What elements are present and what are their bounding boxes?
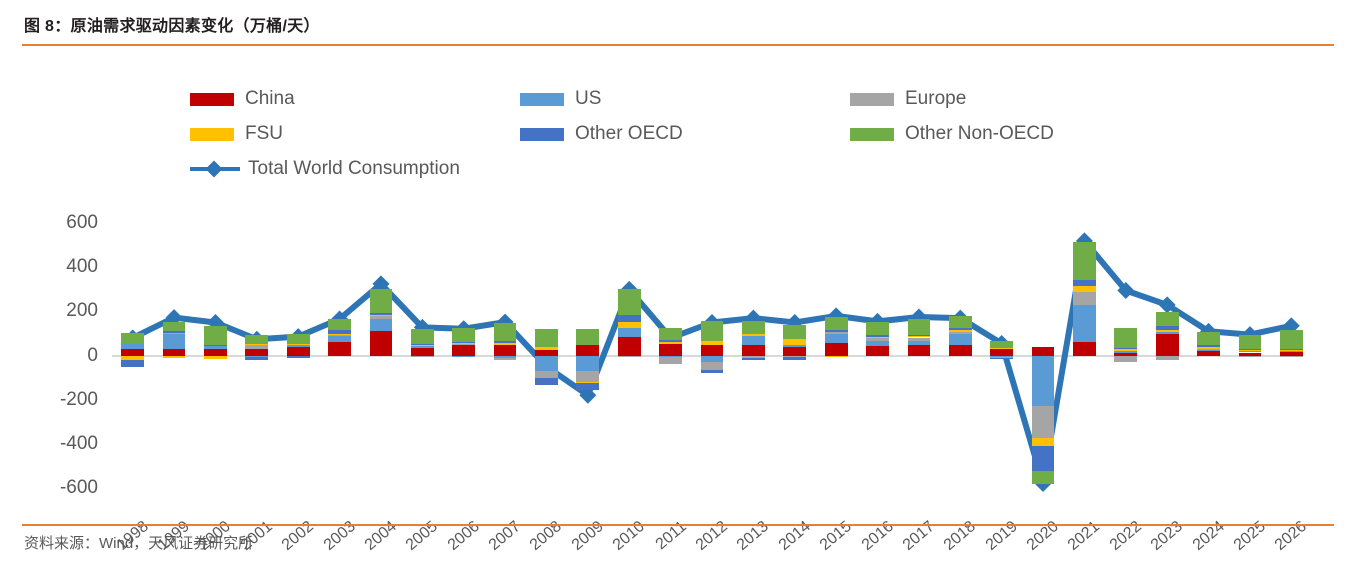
bar-segment [1032, 438, 1055, 447]
bar-segment [949, 332, 972, 334]
bar-group [1073, 210, 1096, 510]
y-axis: 6004002000-200-400-600 [0, 210, 108, 510]
bar-segment [1280, 351, 1303, 352]
bar-segment [121, 343, 144, 350]
bar-segment [494, 343, 517, 345]
legend-label: Europe [905, 88, 966, 110]
bar-segment [370, 331, 393, 356]
y-axis-tick: -400 [60, 433, 98, 455]
bar-segment [411, 345, 434, 346]
bar-segment [949, 316, 972, 328]
bar-segment [452, 345, 475, 355]
bar-segment [908, 345, 931, 355]
bar-segment [204, 356, 227, 359]
bar-group [370, 210, 393, 510]
bar-segment [370, 315, 393, 316]
bar-segment [866, 335, 889, 337]
bar-segment [1114, 349, 1137, 351]
bar-group [494, 210, 517, 510]
bar-segment [204, 345, 227, 348]
bar-segment [163, 331, 186, 332]
bar-segment [908, 335, 931, 336]
bar-segment [370, 319, 393, 330]
bar-segment [701, 356, 724, 363]
bar-segment [1156, 356, 1179, 360]
y-axis-tick: -600 [60, 477, 98, 499]
bar-segment [494, 358, 517, 360]
bar-segment [1239, 356, 1262, 357]
bar-segment [1114, 356, 1137, 363]
footer-divider [22, 524, 1334, 526]
bar-segment [618, 315, 641, 322]
legend-swatch-fsu [190, 128, 234, 141]
bar-group [287, 210, 310, 510]
bar-segment [866, 346, 889, 355]
bar-segment [866, 322, 889, 336]
bar-segment [659, 344, 682, 355]
bar-group [452, 210, 475, 510]
legend-swatch-other-oecd [520, 128, 564, 141]
bar-segment [949, 334, 972, 345]
bar-segment [576, 383, 599, 390]
bar-segment [1073, 242, 1096, 280]
source-note: 资料来源：Wind，天风证券研究所 [24, 532, 253, 553]
bar-segment [1239, 350, 1262, 351]
bar-group [1156, 210, 1179, 510]
bar-group [866, 210, 889, 510]
bar-segment [1114, 328, 1137, 348]
bar-segment [452, 342, 475, 344]
bar-segment [618, 337, 641, 356]
x-axis: 1998199920002001200220032004200520062007… [112, 514, 1312, 574]
legend-item-other-non-oecd[interactable]: Other Non-OECD [850, 123, 1170, 145]
bar-group [204, 210, 227, 510]
bar-segment [370, 313, 393, 315]
bar-segment [1197, 349, 1220, 351]
bar-segment [245, 344, 268, 345]
bar-segment [328, 336, 351, 342]
bar-segment [825, 334, 848, 342]
bar-segment [742, 321, 765, 335]
legend-swatch-other-non-oecd [850, 128, 894, 141]
bar-segment [204, 326, 227, 345]
bar-group [908, 210, 931, 510]
y-axis-tick: -200 [60, 389, 98, 411]
bar-segment [494, 323, 517, 340]
legend-row: ChinaUSEurope [190, 88, 1170, 110]
bar-segment [411, 356, 434, 357]
bar-segment [535, 356, 558, 371]
bar-segment [701, 370, 724, 373]
bar-segment [411, 344, 434, 345]
bar-segment [1280, 349, 1303, 350]
bar-segment [576, 329, 599, 345]
bar-segment [659, 342, 682, 344]
bar-segment [1073, 280, 1096, 287]
legend-label: Other Non-OECD [905, 123, 1054, 145]
bar-segment [328, 335, 351, 336]
bar-segment [949, 345, 972, 356]
legend-swatch-china [190, 93, 234, 106]
bar-segment [204, 345, 227, 346]
bar-segment [411, 348, 434, 356]
bar-segment [287, 347, 310, 355]
legend-label: China [245, 88, 295, 110]
bar-segment [783, 325, 806, 340]
bar-group [1239, 210, 1262, 510]
bar-segment [701, 321, 724, 340]
bar-group [659, 210, 682, 510]
bar-group [1280, 210, 1303, 510]
bar-segment [204, 349, 227, 356]
bar-segment [1032, 446, 1055, 470]
bar-group [328, 210, 351, 510]
bar-group [742, 210, 765, 510]
bar-segment [1197, 347, 1220, 349]
bar-segment [990, 349, 1013, 356]
bar-segment [411, 329, 434, 344]
bar-segment [783, 339, 806, 344]
legend-swatch-us [520, 93, 564, 106]
bar-segment [287, 344, 310, 345]
bar-segment [1073, 292, 1096, 305]
bar-group [1197, 210, 1220, 510]
bar-segment [701, 362, 724, 370]
bar-segment [245, 357, 268, 359]
bar-segment [328, 334, 351, 335]
bar-segment [163, 349, 186, 356]
bar-segment [618, 289, 641, 315]
bar-segment [328, 342, 351, 355]
bar-segment [825, 330, 848, 332]
bar-segment [535, 329, 558, 348]
legend-item-us[interactable]: US [520, 88, 850, 110]
bar-segment [452, 356, 475, 357]
bar-segment [1114, 348, 1137, 349]
bar-segment [866, 337, 889, 338]
bar-segment [659, 328, 682, 339]
bar-segment [411, 346, 434, 347]
bar-segment [659, 357, 682, 365]
bar-segment [1114, 351, 1137, 353]
legend-label: US [575, 88, 601, 110]
bar-segment [1280, 350, 1303, 351]
bar-segment [163, 322, 186, 332]
bar-segment [825, 332, 848, 335]
bar-segment [245, 335, 268, 343]
title-divider [22, 44, 1334, 46]
legend-item-fsu[interactable]: FSU [190, 123, 520, 145]
bar-segment [452, 328, 475, 342]
bar-segment [742, 358, 765, 360]
bar-group [990, 210, 1013, 510]
bar-segment [576, 371, 599, 381]
legend-item-other-oecd[interactable]: Other OECD [520, 123, 850, 145]
bar-segment [825, 356, 848, 357]
bar-group [411, 210, 434, 510]
bar-segment [1156, 326, 1179, 330]
legend-swatch-europe [850, 93, 894, 106]
bar-segment [535, 378, 558, 385]
bar-group [163, 210, 186, 510]
bar-segment [328, 330, 351, 333]
bar-segment [1239, 335, 1262, 349]
bar-segment [1073, 286, 1096, 292]
bar-segment [742, 336, 765, 344]
bar-segment [163, 356, 186, 358]
bar-segment [701, 341, 724, 345]
bar-segment [494, 345, 517, 356]
bar-segment [535, 347, 558, 350]
bar-segment [1156, 312, 1179, 326]
bar-group [535, 210, 558, 510]
bar-segment [1032, 356, 1055, 407]
bar-group [618, 210, 641, 510]
legend-item-total-world-consumption[interactable]: Total World Consumption [190, 158, 520, 180]
bar-segment [163, 334, 186, 349]
bar-segment [287, 356, 310, 358]
bar-group [121, 210, 144, 510]
y-axis-tick: 400 [66, 256, 98, 278]
bar-segment [783, 345, 806, 347]
bar-segment [1197, 332, 1220, 345]
legend-label: FSU [245, 123, 283, 145]
bar-segment [783, 357, 806, 360]
bar-segment [949, 328, 972, 330]
page-title: 图 8：原油需求驱动因素变化（万桶/天） [24, 12, 320, 36]
bar-segment [866, 341, 889, 346]
chart-plot-area: 6004002000-200-400-600 19981999200020012… [0, 210, 1356, 510]
bar-segment [1156, 330, 1179, 333]
bar-segment [1197, 351, 1220, 355]
legend-item-europe[interactable]: Europe [850, 88, 1170, 110]
bar-segment [1197, 349, 1220, 350]
y-axis-tick: 0 [87, 345, 98, 367]
bar-segment [245, 345, 268, 350]
bar-segment [370, 289, 393, 313]
bar-segment [701, 345, 724, 356]
bar-segment [742, 334, 765, 336]
bar-segment [949, 330, 972, 331]
bar-segment [1073, 305, 1096, 343]
bar-group [783, 210, 806, 510]
bar-segment [121, 333, 144, 343]
bar-segment [163, 333, 186, 335]
bar-segment [535, 371, 558, 379]
bar-segment [990, 341, 1013, 348]
bar-segment [494, 341, 517, 343]
legend-label: Total World Consumption [248, 158, 460, 180]
bar-segment [908, 336, 931, 337]
bar-segment [618, 322, 641, 329]
bar-group [825, 210, 848, 510]
bar-segment [659, 340, 682, 343]
bar-segment [1032, 347, 1055, 356]
bar-segment [576, 356, 599, 372]
bar-segment [1239, 349, 1262, 350]
bar-segment [618, 328, 641, 336]
bar-segment [1032, 406, 1055, 437]
y-axis-tick: 200 [66, 300, 98, 322]
legend-line-total-world-consumption [190, 161, 240, 177]
bar-segment [825, 317, 848, 330]
bar-segment [618, 356, 641, 358]
bar-segment [908, 338, 931, 341]
bar-segment [1032, 471, 1055, 484]
y-axis-tick: 600 [66, 212, 98, 234]
chart-legend: ChinaUSEuropeFSUOther OECDOther Non-OECD… [190, 88, 1170, 193]
bar-group [701, 210, 724, 510]
legend-row: FSUOther OECDOther Non-OECD [190, 123, 1170, 145]
legend-label: Other OECD [575, 123, 683, 145]
bar-segment [742, 345, 765, 356]
bar-segment [908, 341, 931, 346]
bar-segment [1197, 345, 1220, 346]
chart-canvas [112, 210, 1312, 510]
bar-segment [825, 343, 848, 356]
bar-segment [121, 360, 144, 367]
bar-group [949, 210, 972, 510]
bar-segment [1239, 351, 1262, 352]
bar-segment [452, 344, 475, 345]
bar-segment [908, 319, 931, 334]
bar-group [1114, 210, 1137, 510]
bar-segment [287, 334, 310, 344]
legend-row: Total World Consumption [190, 158, 1170, 180]
bar-group [1032, 210, 1055, 510]
bar-segment [370, 316, 393, 319]
bar-segment [287, 345, 310, 348]
bar-group [245, 210, 268, 510]
bar-segment [1073, 342, 1096, 355]
legend-item-china[interactable]: China [190, 88, 520, 110]
bar-segment [866, 338, 889, 342]
bar-segment [1280, 330, 1303, 349]
bar-segment [990, 348, 1013, 349]
bar-segment [990, 358, 1013, 359]
bar-segment [1156, 334, 1179, 356]
bar-segment [783, 347, 806, 356]
bar-segment [328, 319, 351, 331]
bar-group [576, 210, 599, 510]
bar-segment [1156, 332, 1179, 333]
bar-segment [576, 345, 599, 356]
